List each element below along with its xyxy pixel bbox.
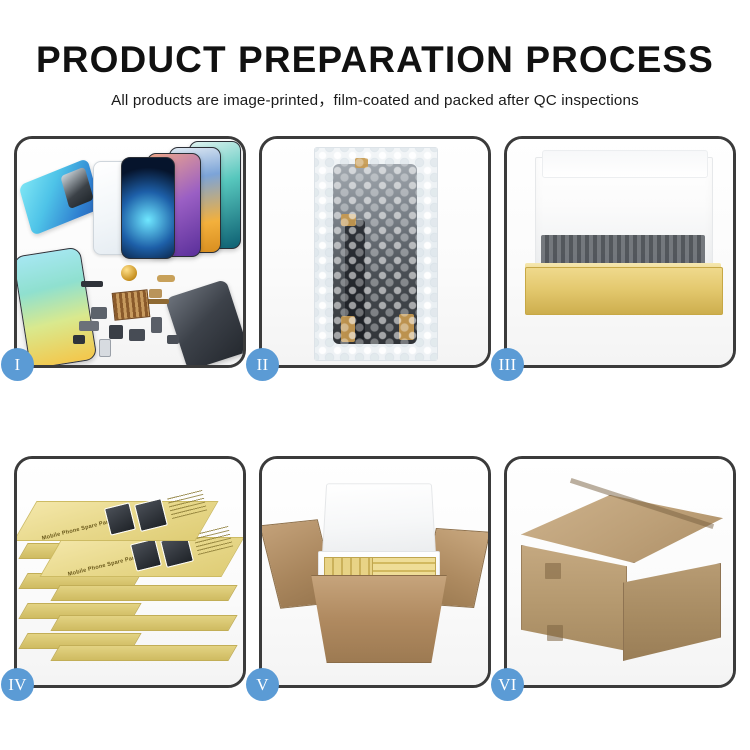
page-subtitle: All products are image-printed，film-coat…: [0, 91, 750, 111]
carton-front-face-icon: [521, 545, 627, 651]
step-badge-1: I: [1, 348, 34, 381]
component-chip-grid-icon: [112, 289, 151, 321]
process-step-panel-2: II: [259, 136, 491, 368]
box-side-face: [50, 585, 237, 601]
component-sim-tray-icon: [99, 339, 111, 357]
process-step-panel-3: III: [504, 136, 736, 368]
box-side-face: [50, 645, 237, 661]
product-preparation-process-page: PRODUCT PREPARATION PROCESS All products…: [0, 0, 750, 750]
step-badge-3: III: [491, 348, 524, 381]
screen-protector-film-icon: [18, 158, 101, 236]
component-bracket-icon: [149, 289, 162, 298]
component-module-icon: [79, 321, 99, 331]
box-side-face: [50, 615, 237, 631]
component-misc-icon: [167, 335, 179, 344]
stacked-boxes-group: Mobile Phone Spare Parts Mobile Phone Sp…: [23, 481, 243, 677]
stacked-box-icon: [55, 603, 231, 629]
process-step-panel-6: VI: [504, 456, 736, 688]
page-header: PRODUCT PREPARATION PROCESS All products…: [0, 38, 750, 111]
component-speaker-icon: [121, 265, 137, 281]
process-step-grid: I II: [14, 136, 736, 688]
step-badge-4: IV: [1, 668, 34, 701]
carton-side-face-icon: [623, 563, 721, 661]
phone-display-blue-icon: [121, 157, 175, 259]
step-6-image: [507, 459, 733, 685]
carton-tape-mark-icon: [545, 563, 561, 579]
step-3-image: [507, 139, 733, 365]
connector-tab-icon: [341, 214, 356, 226]
component-strip-icon: [151, 317, 162, 333]
step-4-image: Mobile Phone Spare Parts Mobile Phone Sp…: [17, 459, 243, 685]
process-step-panel-4: Mobile Phone Spare Parts Mobile Phone Sp…: [14, 456, 246, 688]
page-title: PRODUCT PREPARATION PROCESS: [0, 38, 750, 82]
connector-tab-icon: [355, 158, 368, 168]
step-badge-2: II: [246, 348, 279, 381]
step-badge-6: VI: [491, 668, 524, 701]
step-badge-5: V: [246, 668, 279, 701]
component-shield-icon: [129, 329, 145, 341]
step-2-image: [262, 139, 488, 365]
connector-tab-icon: [341, 316, 355, 342]
component-connector-icon: [157, 275, 175, 282]
component-screw-set-icon: [73, 335, 85, 344]
phone-back-housing-icon: [165, 279, 243, 365]
component-part-icon: [81, 281, 103, 287]
step-1-image: [17, 139, 243, 365]
shipping-carton-open-icon: [302, 575, 456, 663]
bubble-wrap-bag-icon: [314, 147, 438, 361]
connector-tab-icon: [399, 314, 414, 340]
component-button-icon: [109, 325, 123, 339]
process-step-panel-5: V: [259, 456, 491, 688]
stacked-box-icon: [55, 633, 231, 659]
step-5-image: [262, 459, 488, 685]
carton-tape-mark-icon: [547, 625, 563, 641]
phone-display-large-icon: [17, 246, 97, 365]
process-step-panel-1: I: [14, 136, 246, 368]
foam-box-lid-icon: [322, 483, 437, 559]
yellow-inner-box-icon: [525, 267, 723, 315]
component-camera-icon: [91, 307, 107, 319]
